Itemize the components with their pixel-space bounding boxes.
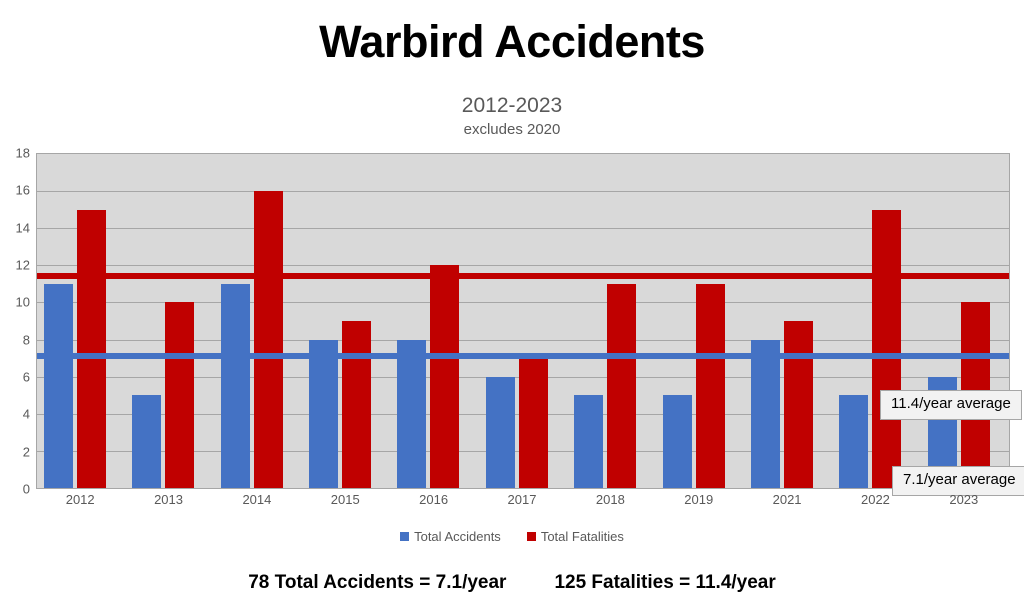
y-axis-tick-label: 6 — [23, 370, 30, 385]
bar-fatalities-2014[interactable] — [254, 191, 283, 488]
y-axis-tick-label: 16 — [16, 183, 30, 198]
chart-subtitle: 2012-2023 — [0, 94, 1024, 118]
x-axis-tick-label-2021: 2021 — [773, 492, 802, 507]
chart-subtitle-note: excludes 2020 — [0, 121, 1024, 138]
bar-group-2019 — [656, 154, 744, 488]
legend-label: Total Accidents — [414, 529, 501, 544]
bar-fatalities-2018[interactable] — [607, 284, 636, 488]
y-axis: 024681012141618 — [0, 153, 30, 489]
x-axis-tick-label-2022: 2022 — [861, 492, 890, 507]
bar-accidents-2019[interactable] — [663, 395, 692, 488]
legend-item-total-accidents[interactable]: Total Accidents — [400, 529, 501, 544]
legend-swatch-icon — [527, 532, 536, 541]
y-axis-tick-label: 12 — [16, 258, 30, 273]
bar-group-2017 — [479, 154, 567, 488]
bar-fatalities-2019[interactable] — [696, 284, 725, 488]
footer-fatalities-summary: 125 Fatalities = 11.4/year — [554, 572, 775, 594]
bar-group-2018 — [567, 154, 655, 488]
y-axis-tick-label: 0 — [23, 482, 30, 497]
x-axis-tick-label-2016: 2016 — [419, 492, 448, 507]
footer-summary: 78 Total Accidents = 7.1/year 125 Fatali… — [0, 572, 1024, 594]
bar-group-2014 — [214, 154, 302, 488]
x-axis-tick-label-2018: 2018 — [596, 492, 625, 507]
bar-fatalities-2016[interactable] — [430, 265, 459, 488]
legend-label: Total Fatalities — [541, 529, 624, 544]
bar-accidents-2016[interactable] — [397, 340, 426, 488]
reference-line-fatalities-average — [37, 273, 1009, 279]
footer-accidents-summary: 78 Total Accidents = 7.1/year — [248, 572, 506, 594]
x-axis-tick-label-2014: 2014 — [242, 492, 271, 507]
bar-accidents-2018[interactable] — [574, 395, 603, 488]
x-axis-tick-label-2019: 2019 — [684, 492, 713, 507]
y-axis-tick-label: 14 — [16, 220, 30, 235]
bar-fatalities-2013[interactable] — [165, 302, 194, 488]
bar-group-2016 — [390, 154, 478, 488]
legend-item-total-fatalities[interactable]: Total Fatalities — [527, 529, 624, 544]
bar-fatalities-2021[interactable] — [784, 321, 813, 488]
callout-fatalities-average: 11.4/year average — [880, 390, 1022, 420]
bar-group-2021 — [744, 154, 832, 488]
bar-accidents-2014[interactable] — [221, 284, 250, 488]
x-axis-tick-label-2023: 2023 — [949, 492, 978, 507]
legend-swatch-icon — [400, 532, 409, 541]
reference-line-accidents-average — [37, 353, 1009, 359]
x-axis-tick-label-2015: 2015 — [331, 492, 360, 507]
y-axis-tick-label: 2 — [23, 444, 30, 459]
y-axis-tick-label: 4 — [23, 407, 30, 422]
bar-fatalities-2012[interactable] — [77, 210, 106, 488]
bar-group-2013 — [125, 154, 213, 488]
bar-fatalities-2015[interactable] — [342, 321, 371, 488]
bar-accidents-2013[interactable] — [132, 395, 161, 488]
bar-accidents-2017[interactable] — [486, 377, 515, 488]
chart-legend: Total AccidentsTotal Fatalities — [0, 529, 1024, 544]
bar-fatalities-2022[interactable] — [872, 210, 901, 488]
bar-group-2023 — [921, 154, 1009, 488]
chart-title: Warbird Accidents — [0, 18, 1024, 65]
y-axis-tick-label: 8 — [23, 332, 30, 347]
bar-accidents-2021[interactable] — [751, 340, 780, 488]
bar-fatalities-2017[interactable] — [519, 358, 548, 488]
x-axis-tick-label-2013: 2013 — [154, 492, 183, 507]
y-axis-tick-label: 10 — [16, 295, 30, 310]
bar-group-2015 — [302, 154, 390, 488]
bar-accidents-2022[interactable] — [839, 395, 868, 488]
bar-accidents-2012[interactable] — [44, 284, 73, 488]
y-axis-tick-label: 18 — [16, 146, 30, 161]
bar-group-2022 — [832, 154, 920, 488]
x-axis-tick-label-2017: 2017 — [508, 492, 537, 507]
bar-accidents-2015[interactable] — [309, 340, 338, 488]
bar-group-2012 — [37, 154, 125, 488]
plot-area: 11.4/year average 7.1/year average — [36, 153, 1010, 489]
x-axis: 2012201320142015201620172018201920212022… — [36, 492, 1010, 516]
x-axis-tick-label-2012: 2012 — [66, 492, 95, 507]
